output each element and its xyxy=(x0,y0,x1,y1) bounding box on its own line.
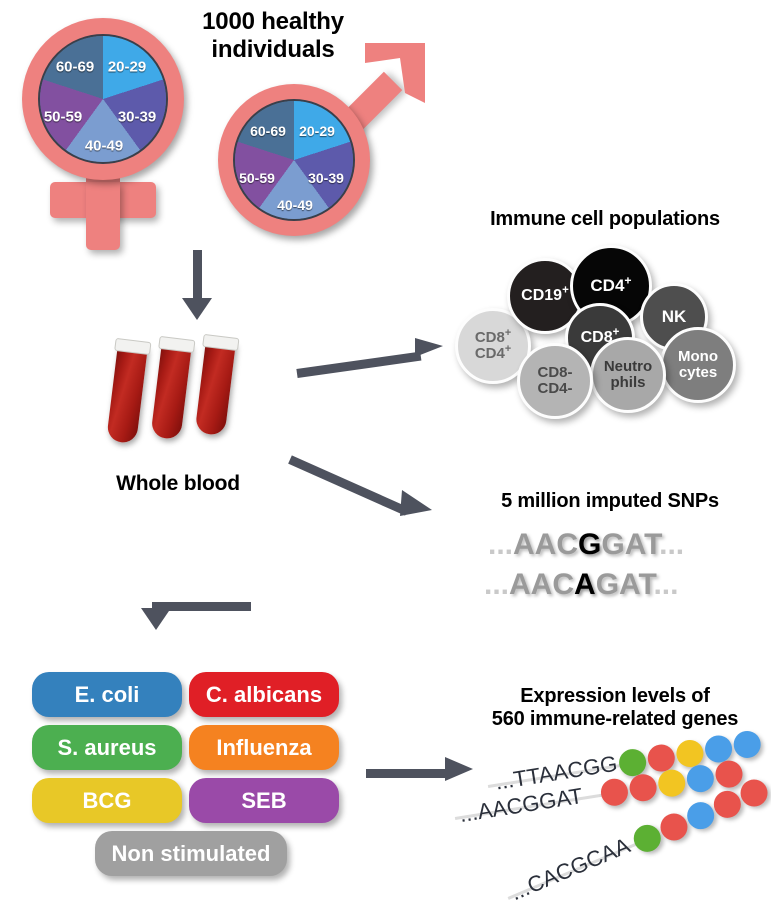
blood-tube xyxy=(195,339,236,436)
stimulus-button-seb[interactable]: SEB xyxy=(189,778,339,823)
blood-tube-body xyxy=(106,343,148,444)
cell-label-line2: CD4+ xyxy=(475,346,511,362)
gene-bead xyxy=(685,763,716,794)
whole-blood-label: Whole blood xyxy=(88,472,268,496)
immune-heading: Immune cell populations xyxy=(455,208,755,231)
blood-tube xyxy=(150,341,191,440)
gene-bead xyxy=(628,772,659,803)
stimulus-button-s-aureus[interactable]: S. aureus xyxy=(32,725,182,770)
snp-suffix: ... xyxy=(659,528,684,561)
pie-label-20-29: 20-29 xyxy=(108,59,146,76)
pie-label-20-29: 20-29 xyxy=(299,123,335,139)
cell-label: CD4+ xyxy=(590,277,631,295)
immune-cells-group: CD8+ CD4+ CD19+ CD4+ CD8+ NK Mono cytes … xyxy=(455,245,755,415)
blood-tube-body xyxy=(150,341,191,440)
snp-suffix: ... xyxy=(653,568,678,601)
strand-sequence: ...CACGCAA xyxy=(507,833,634,907)
cell-label-line2: phils xyxy=(610,375,645,391)
expression-heading-line2: 560 immune-related genes xyxy=(465,708,765,731)
gene-bead xyxy=(732,729,763,760)
snp-post: GAT xyxy=(596,568,654,601)
immune-cell-monocytes: Mono cytes xyxy=(660,327,736,403)
snp-pre: AAC xyxy=(513,528,578,561)
snp-highlight: G xyxy=(578,528,601,561)
stimulus-button-bcg[interactable]: BCG xyxy=(32,778,182,823)
male-gender-symbol: 20-29 30-39 40-49 50-59 60-69 xyxy=(200,40,420,240)
immune-cell-cd8n-cd4n: CD8- CD4- xyxy=(517,343,593,419)
cell-label: CD19+ xyxy=(521,288,569,305)
snp-heading: 5 million imputed SNPs xyxy=(470,490,750,513)
pie-label-60-69: 60-69 xyxy=(250,123,286,139)
snp-highlight: A xyxy=(574,568,596,601)
expression-heading-line1: Expression levels of xyxy=(465,685,765,708)
gene-bead xyxy=(599,777,630,808)
cell-label-line1: Neutro xyxy=(604,359,652,375)
immune-cell-neutrophils: Neutro phils xyxy=(590,337,666,413)
gene-bead xyxy=(656,768,687,799)
snp-prefix: ... xyxy=(484,568,509,601)
blood-tube-body xyxy=(195,339,236,436)
cell-label-line1: CD8- xyxy=(537,365,572,381)
blood-tubes-group xyxy=(110,335,290,450)
female-gender-symbol: 20-29 30-39 40-49 50-59 60-69 xyxy=(12,12,212,257)
snp-sequences-group: ...AACGGAT... ...AACAGAT... xyxy=(470,528,750,618)
female-cross-lower-stem xyxy=(86,182,120,250)
pie-label-40-49: 40-49 xyxy=(85,138,123,155)
snp-row: ...AACAGAT... xyxy=(484,568,678,602)
expression-heading: Expression levels of 560 immune-related … xyxy=(465,685,765,731)
stimulus-button-e-coli[interactable]: E. coli xyxy=(32,672,182,717)
cell-label: NK xyxy=(662,308,687,326)
stimulus-button-influenza[interactable]: Influenza xyxy=(189,725,339,770)
cell-label-line1: Mono xyxy=(678,349,718,365)
pie-label-60-69: 60-69 xyxy=(56,59,94,76)
cell-label-line2: CD4- xyxy=(537,381,572,397)
expression-strands-group: ...TTAACGG ...AACGGAT ...CACGCAA xyxy=(460,745,771,915)
snp-post: GAT xyxy=(601,528,659,561)
pie-label-50-59: 50-59 xyxy=(239,170,275,186)
pie-label-30-39: 30-39 xyxy=(308,170,344,186)
snp-prefix: ... xyxy=(488,528,513,561)
stimulus-button-c-albicans[interactable]: C. albicans xyxy=(189,672,339,717)
snp-row: ...AACGGAT... xyxy=(488,528,684,562)
pie-label-30-39: 30-39 xyxy=(118,109,156,126)
snp-pre: AAC xyxy=(509,568,574,601)
cell-label-line2: cytes xyxy=(679,365,717,381)
stimulus-button-non-stimulated[interactable]: Non stimulated xyxy=(95,831,287,876)
stimuli-group: E. coli C. albicans S. aureus Influenza … xyxy=(32,672,352,892)
pie-label-40-49: 40-49 xyxy=(277,197,313,213)
blood-tube xyxy=(106,343,148,444)
pie-label-50-59: 50-59 xyxy=(44,109,82,126)
